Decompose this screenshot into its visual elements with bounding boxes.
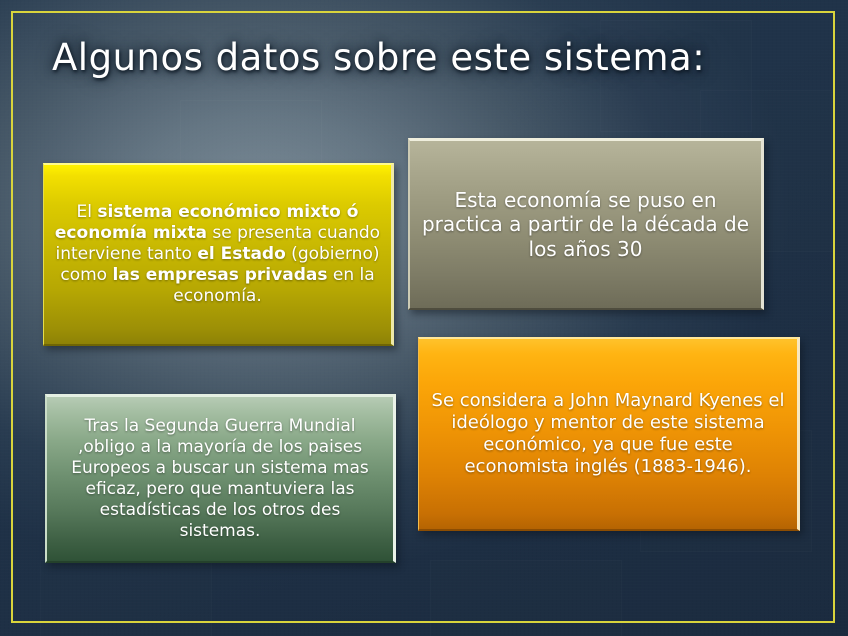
text-box-definicion-economia-mixta: El sistema económico mixto ó economía mi… bbox=[43, 163, 394, 346]
text-box-olive-content: Esta economía se puso en practica a part… bbox=[410, 188, 761, 262]
page-title: Algunos datos sobre este sistema: bbox=[52, 36, 705, 79]
text-box-contexto-posguerra: Tras la Segunda Guerra Mundial ,obligo a… bbox=[45, 394, 396, 563]
text-box-origen-decada-30: Esta economía se puso en practica a part… bbox=[408, 138, 764, 310]
text-box-orange-content: Se considera a John Maynard Kyenes el id… bbox=[419, 390, 797, 479]
text-box-green-content: Tras la Segunda Guerra Mundial ,obligo a… bbox=[47, 416, 393, 541]
text-box-yellow-content: El sistema económico mixto ó economía mi… bbox=[44, 202, 391, 307]
presentation-slide: Algunos datos sobre este sistema: El sis… bbox=[0, 0, 848, 636]
text-box-ideologo-keynes: Se considera a John Maynard Kyenes el id… bbox=[418, 337, 800, 531]
